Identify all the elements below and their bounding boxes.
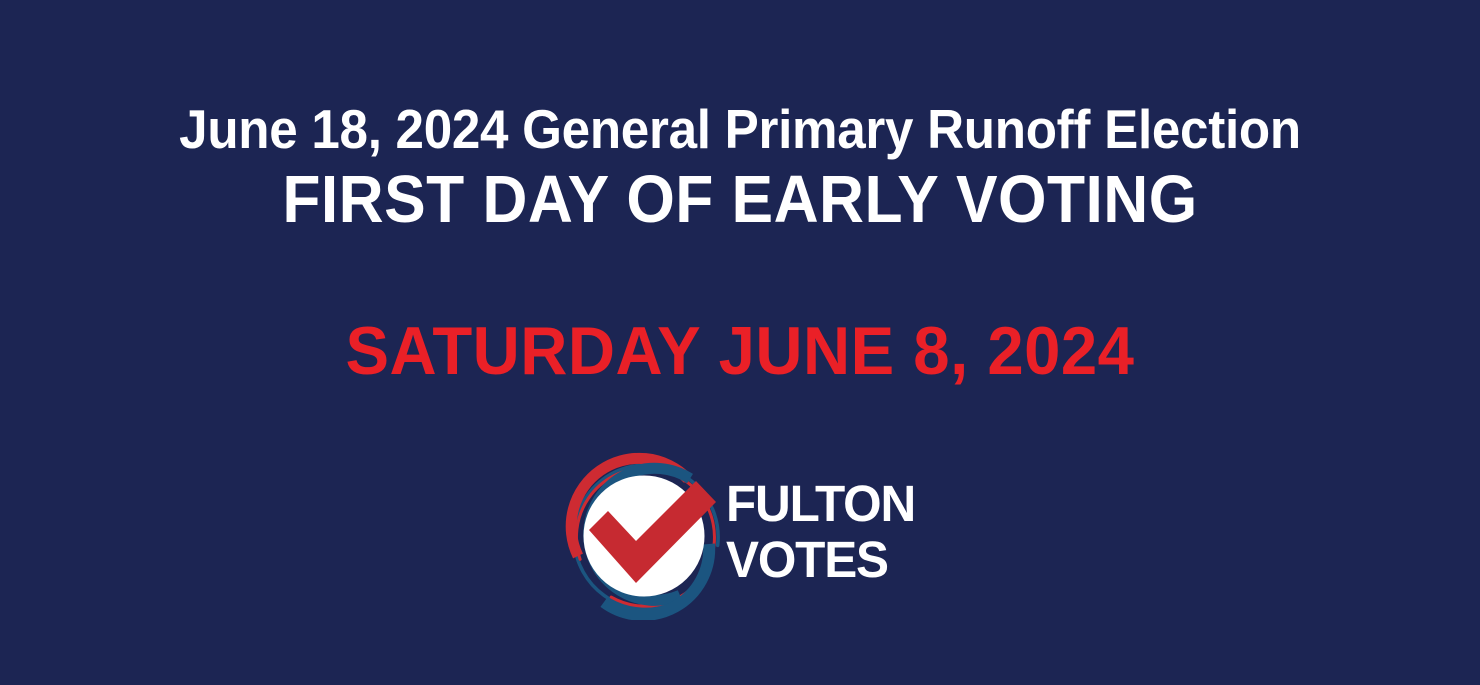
event-title-line: FIRST DAY OF EARLY VOTING bbox=[52, 162, 1428, 238]
fulton-votes-seal-icon bbox=[560, 452, 728, 620]
headline-block: June 18, 2024 General Primary Runoff Ele… bbox=[0, 96, 1480, 238]
fulton-votes-logo: FULTON VOTES bbox=[560, 452, 930, 620]
wordmark-line-votes: VOTES bbox=[726, 532, 924, 588]
early-voting-announcement-poster: June 18, 2024 General Primary Runoff Ele… bbox=[0, 0, 1480, 685]
election-name-line: June 18, 2024 General Primary Runoff Ele… bbox=[52, 96, 1428, 162]
date-block: SATURDAY JUNE 8, 2024 bbox=[0, 312, 1480, 390]
fulton-votes-wordmark: FULTON VOTES bbox=[726, 476, 930, 596]
wordmark-line-fulton: FULTON bbox=[726, 476, 924, 532]
voting-date-text: SATURDAY JUNE 8, 2024 bbox=[30, 312, 1451, 390]
